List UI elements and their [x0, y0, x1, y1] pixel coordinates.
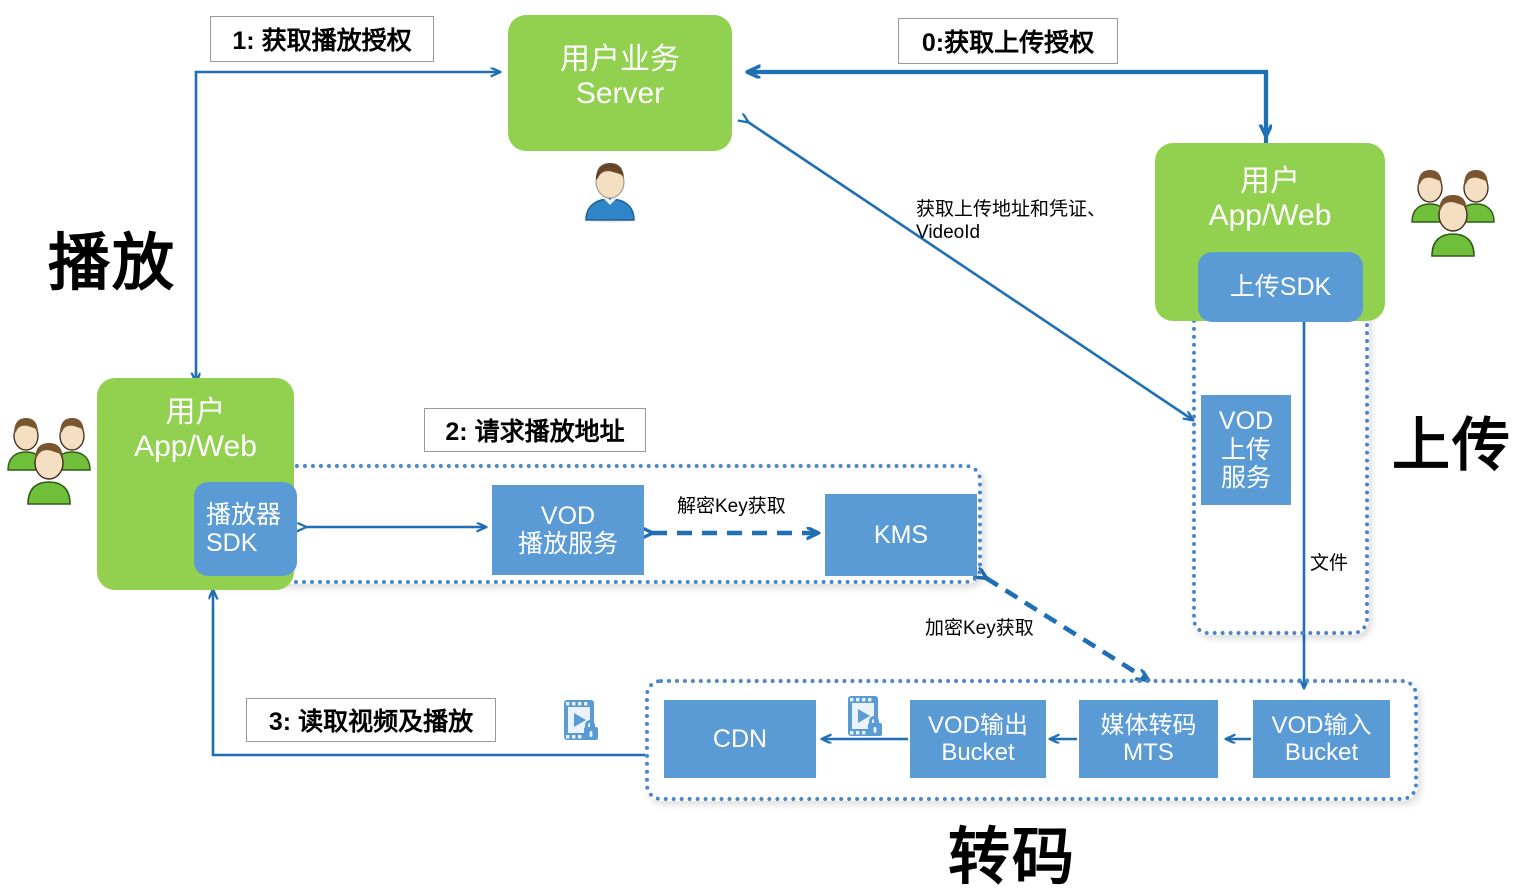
node-label-line3: 服务 [1221, 464, 1271, 493]
section-title-playback: 播放 [48, 212, 176, 302]
node-mts[interactable]: 媒体转码 MTS [1079, 700, 1218, 778]
callout-step1: 1: 获取播放授权 [210, 16, 434, 62]
node-label-line2: MTS [1123, 739, 1174, 766]
callout-step3: 3: 读取视频及播放 [246, 698, 496, 742]
node-label-line1: 用户 [1240, 165, 1300, 199]
node-label-line1: CDN [713, 725, 767, 754]
node-kms[interactable]: KMS [825, 494, 977, 576]
node-label-line2: Server [576, 77, 664, 111]
node-vod-play-service[interactable]: VOD 播放服务 [492, 485, 644, 575]
node-label-line1: 媒体转码 [1101, 712, 1197, 739]
label-get-upload-address: 获取上传地址和凭证、 VideoId [916, 198, 1146, 244]
edge-get-upload-address-credential [748, 122, 1193, 420]
node-player-sdk[interactable]: 播放器 SDK [194, 482, 297, 576]
section-title-transcode: 转码 [948, 806, 1076, 888]
callout-step0: 0:获取上传授权 [898, 18, 1118, 64]
node-user-business-server[interactable]: 用户业务 Server [508, 15, 732, 151]
diagram-canvas: 播放 上传 转码 用户业务 Server 用户 App/Web 用户 App/W… [0, 0, 1518, 888]
node-label-line1: 用户业务 [560, 43, 680, 77]
node-label-line2: 上传 [1221, 436, 1271, 465]
node-label-line2: App/Web [1209, 199, 1332, 233]
node-label-line2: Bucket [941, 739, 1014, 766]
section-title-upload: 上传 [1392, 398, 1512, 482]
edge-step0-get-upload-auth [748, 72, 1266, 143]
group-users-icon [1410, 166, 1496, 258]
encrypted-video-icon [562, 698, 602, 744]
node-label-line1: VOD输出 [928, 712, 1028, 739]
node-vod-upload-service[interactable]: VOD 上传 服务 [1201, 395, 1291, 505]
single-user-icon [578, 158, 642, 224]
group-users-icon [6, 414, 92, 506]
node-cdn[interactable]: CDN [664, 700, 816, 778]
node-label-line2: 播放服务 [518, 530, 618, 559]
node-label-line1: KMS [874, 521, 928, 550]
edge-step1-get-play-auth [196, 72, 500, 382]
node-label-line1: 用户 [166, 396, 226, 430]
node-vod-output-bucket[interactable]: VOD输出 Bucket [910, 700, 1046, 778]
node-vod-input-bucket[interactable]: VOD输入 Bucket [1253, 700, 1390, 778]
node-upload-sdk[interactable]: 上传SDK [1198, 252, 1363, 322]
encrypted-video-icon [846, 694, 886, 740]
callout-step2: 2: 请求播放地址 [424, 408, 646, 452]
node-label-line2: SDK [206, 529, 257, 558]
label-encrypt-key: 加密Key获取 [925, 617, 1034, 640]
label-file: 文件 [1310, 552, 1348, 575]
node-label-line1: 播放器 [206, 501, 281, 530]
node-label-line1: VOD [1219, 407, 1273, 436]
label-decrypt-key: 解密Key获取 [677, 495, 786, 518]
node-label-line2: App/Web [134, 430, 257, 464]
node-label-line1: 上传SDK [1230, 273, 1331, 302]
node-label-line1: VOD输入 [1271, 712, 1371, 739]
node-label-line1: VOD [541, 502, 595, 531]
node-label-line2: Bucket [1285, 739, 1358, 766]
